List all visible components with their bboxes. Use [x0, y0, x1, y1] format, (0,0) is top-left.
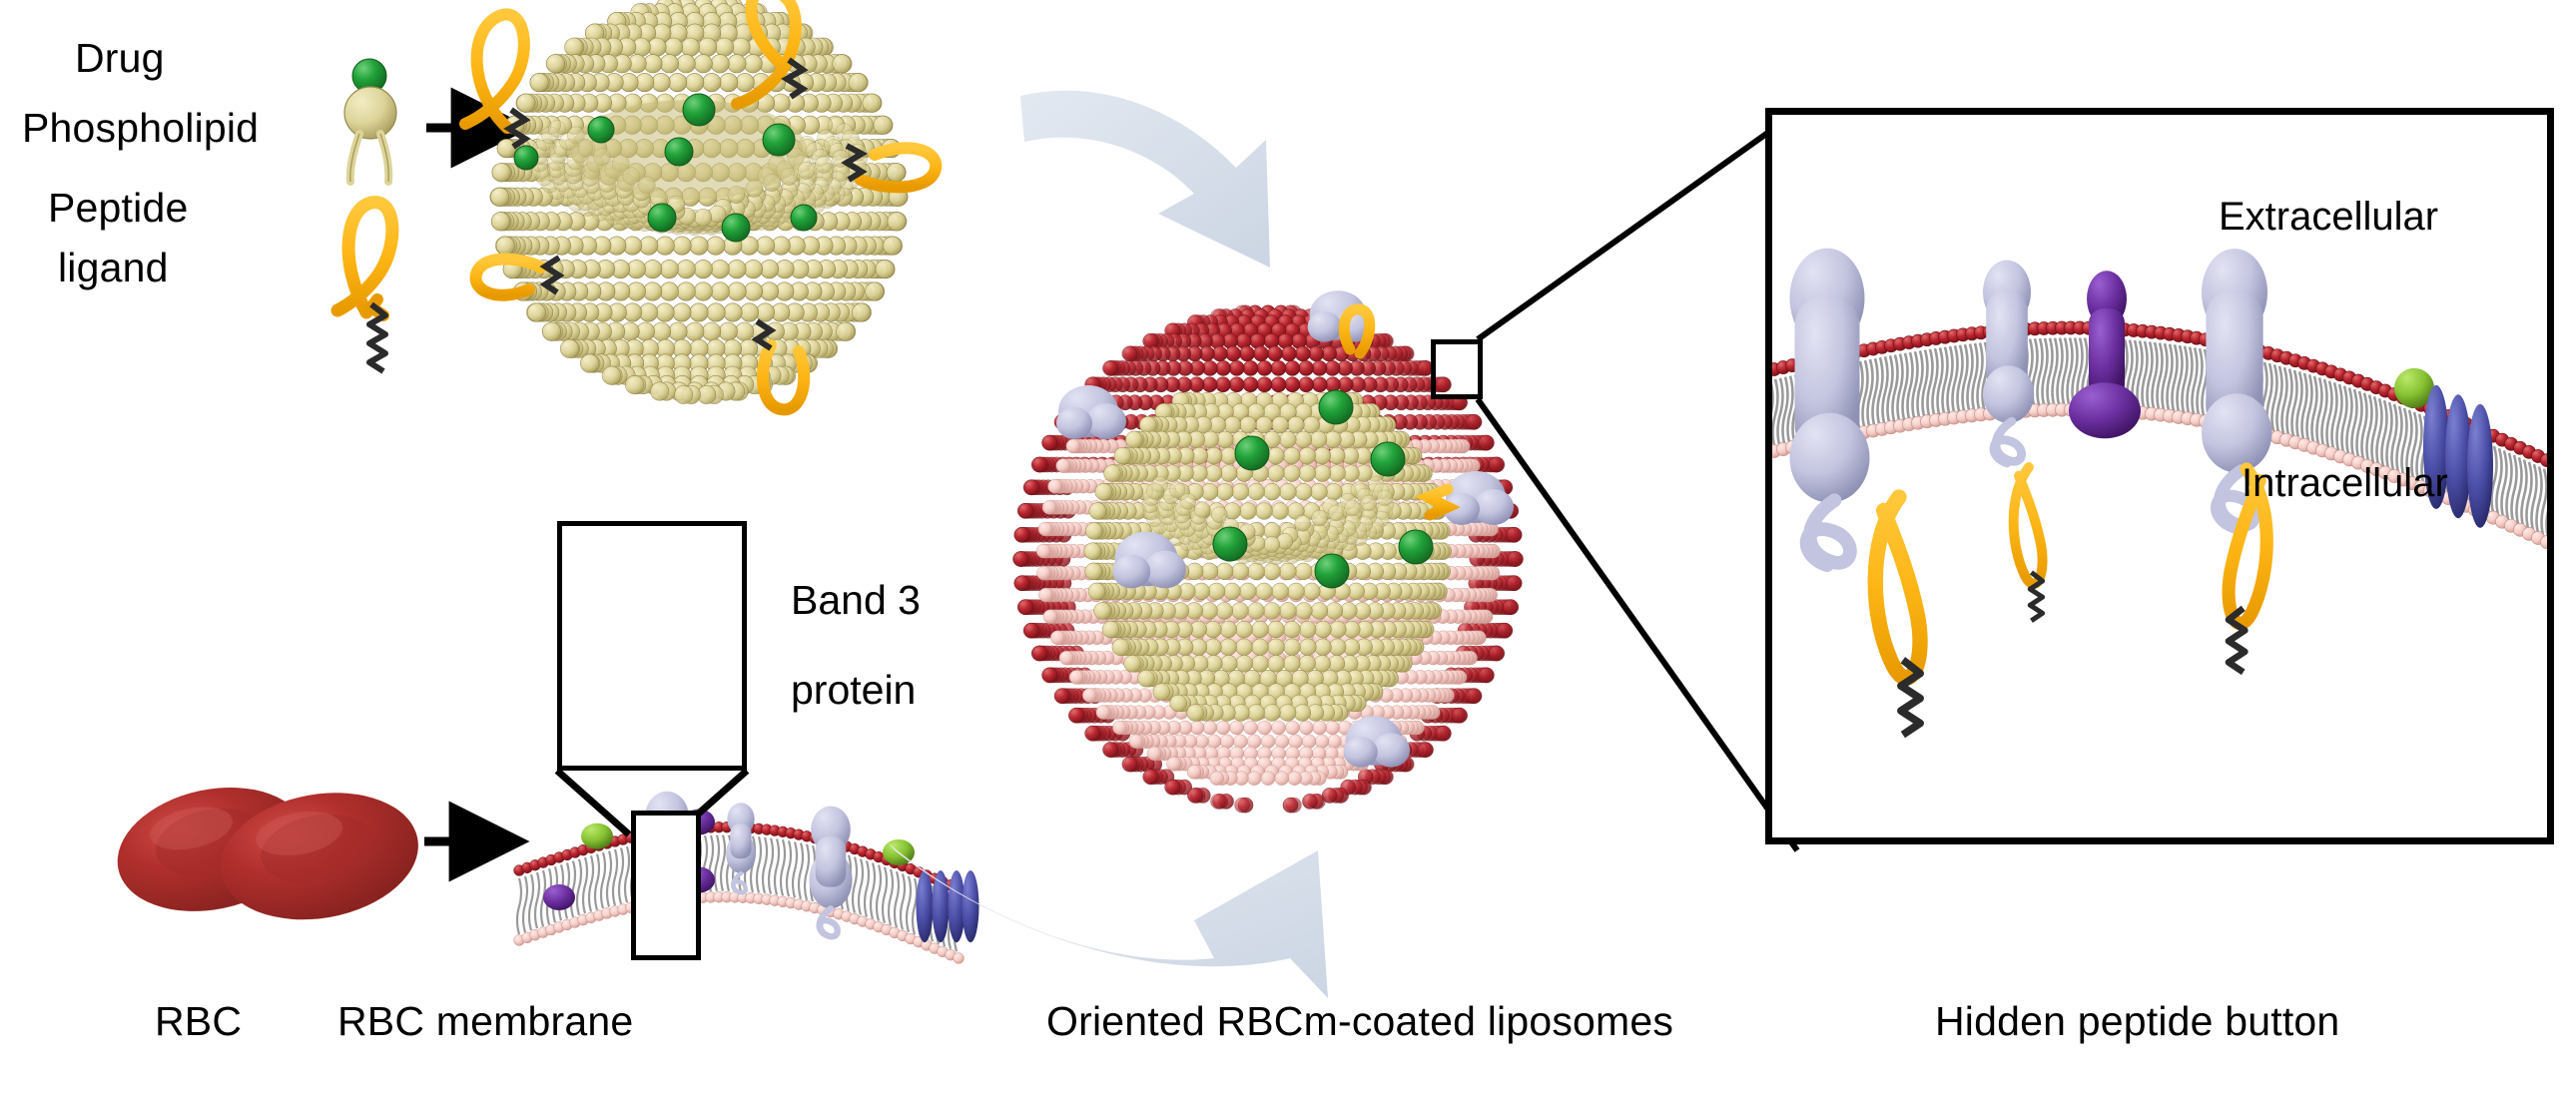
phospholipid-icon — [344, 87, 396, 182]
rbc-membrane-graphic — [514, 792, 979, 964]
legend-label-drug: Drug — [75, 35, 165, 82]
caption-liposomes: Oriented RBCm-coated liposomes — [1046, 998, 1673, 1045]
band3-inset-box — [557, 521, 747, 771]
extracellular-label: Extracellular — [2219, 195, 2438, 240]
caption-hidden-peptide-button: Hidden peptide button — [1935, 998, 2339, 1045]
band3-label-line2: protein — [791, 667, 916, 714]
legend-label-peptide-line1: Peptide — [48, 185, 188, 232]
drug-loaded-liposome-graphic — [465, 0, 936, 409]
liposome-zoom-box — [1431, 339, 1483, 399]
rbc-icon — [106, 771, 428, 934]
caption-rbc: RBC — [155, 998, 242, 1045]
figure-canvas: Drug Phospholipid Peptide ligand Band 3 … — [0, 0, 2576, 1093]
zoom-leader-lines — [1478, 112, 1797, 850]
band3-label-line1: Band 3 — [791, 577, 921, 624]
intracellular-label: Intracellular — [2242, 461, 2448, 506]
gray-curved-arrow-top — [1020, 91, 1270, 268]
peptide-ligand-icon — [337, 203, 392, 371]
legend-label-phospholipid: Phospholipid — [22, 105, 259, 152]
band3-highlight-box — [631, 811, 701, 960]
caption-rbc-membrane: RBC membrane — [337, 998, 633, 1045]
legend-label-peptide-line2: ligand — [58, 245, 169, 291]
